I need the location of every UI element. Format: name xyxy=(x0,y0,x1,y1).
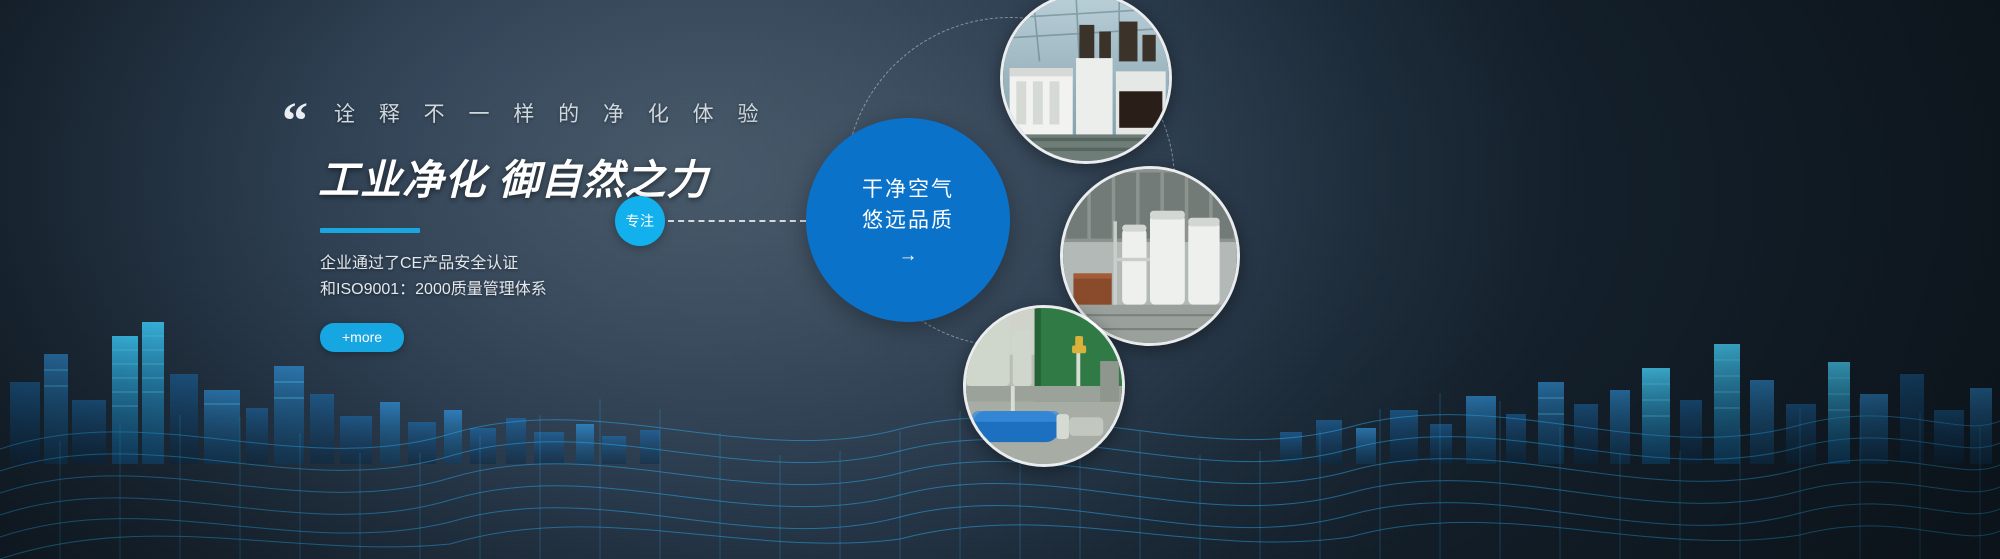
quote-mark-icon: “ xyxy=(282,96,306,148)
thumbnail-industrial-plant[interactable] xyxy=(1000,0,1172,164)
accent-rule-divider xyxy=(320,228,420,233)
hero-copy-block: “ 诠 释 不 一 样 的 净 化 体 验 工业净化 御自然之力 企业通过了CE… xyxy=(312,98,872,352)
hero-banner: “ 诠 释 不 一 样 的 净 化 体 验 工业净化 御自然之力 企业通过了CE… xyxy=(0,0,2000,559)
circle-line-1: 干净空气 xyxy=(862,174,954,206)
hero-description: 企业通过了CE产品安全认证 和ISO9001：2000质量管理体系 xyxy=(320,251,872,303)
description-line-2: 和ISO9001：2000质量管理体系 xyxy=(320,277,872,303)
skyline-right-svg xyxy=(1240,204,2000,464)
hero-headline: 工业净化 御自然之力 xyxy=(318,146,872,206)
thumbnail-piping-equipment-image xyxy=(966,308,1122,464)
hero-subtitle: 诠 释 不 一 样 的 净 化 体 验 xyxy=(334,98,872,128)
more-button[interactable]: +more xyxy=(320,323,404,352)
description-line-1: 企业通过了CE产品安全认证 xyxy=(320,251,872,277)
thumbnail-industrial-plant-image xyxy=(1003,0,1169,161)
focus-badge-label: 专注 xyxy=(626,211,655,231)
focus-badge[interactable]: 专注 xyxy=(615,196,665,246)
circle-line-2: 悠远品质 xyxy=(862,205,954,237)
main-feature-circle[interactable]: 干净空气 悠远品质 → xyxy=(806,118,1010,322)
arrow-right-icon: → xyxy=(899,245,918,267)
thumbnail-filtration-tanks-image xyxy=(1063,169,1237,343)
thumbnail-piping-equipment[interactable] xyxy=(963,305,1125,467)
